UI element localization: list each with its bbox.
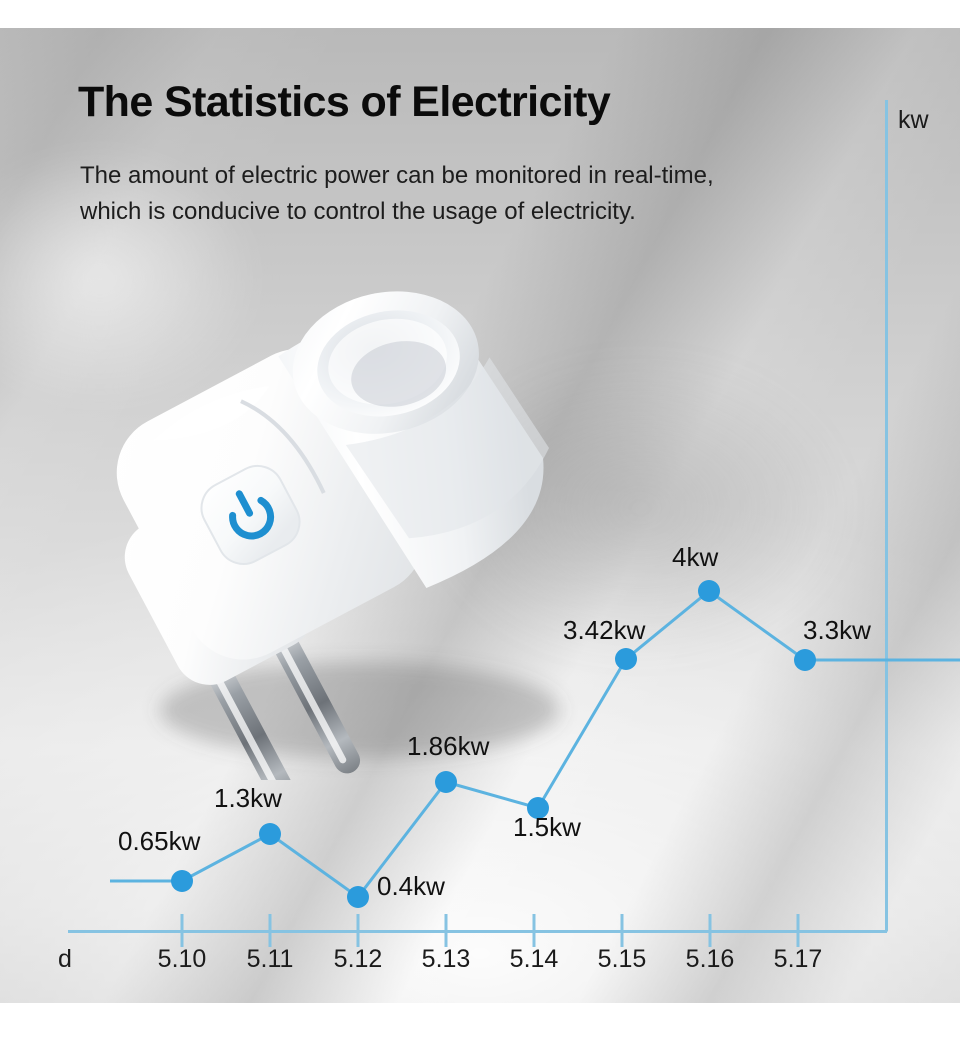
data-label-5-17: 3.3kw bbox=[803, 615, 871, 646]
data-label-5-11: 1.3kw bbox=[214, 783, 282, 814]
electricity-line-chart: kw d 5.10 5.11 5.12 5.13 5.14 5.15 5.16 … bbox=[0, 0, 960, 1003]
x-tick-label-0: 5.10 bbox=[158, 945, 207, 974]
product-infographic-page: The Statistics of Electricity The amount… bbox=[0, 0, 960, 1062]
x-tick-label-7: 5.17 bbox=[774, 945, 823, 974]
data-point-5-15 bbox=[615, 648, 637, 670]
data-label-5-15: 3.42kw bbox=[563, 615, 645, 646]
data-point-5-17 bbox=[794, 649, 816, 671]
y-axis-unit-label: kw bbox=[898, 106, 929, 135]
x-axis-unit-label: d bbox=[58, 945, 72, 974]
data-label-5-16: 4kw bbox=[672, 542, 718, 573]
x-tick-label-6: 5.16 bbox=[686, 945, 735, 974]
data-point-5-11 bbox=[259, 823, 281, 845]
x-tick-label-5: 5.15 bbox=[598, 945, 647, 974]
x-tick-label-4: 5.14 bbox=[510, 945, 559, 974]
data-point-5-16 bbox=[698, 580, 720, 602]
data-label-5-13: 1.86kw bbox=[407, 731, 489, 762]
x-tick-label-1: 5.11 bbox=[247, 945, 294, 974]
data-label-5-10: 0.65kw bbox=[118, 826, 200, 857]
data-point-5-13 bbox=[435, 771, 457, 793]
chart-axes bbox=[68, 100, 887, 947]
chart-data-markers bbox=[171, 580, 816, 908]
data-label-5-12: 0.4kw bbox=[377, 871, 445, 902]
x-tick-label-2: 5.12 bbox=[334, 945, 383, 974]
x-tick-label-3: 5.13 bbox=[422, 945, 471, 974]
data-label-5-14: 1.5kw bbox=[513, 812, 581, 843]
data-point-5-10 bbox=[171, 870, 193, 892]
data-point-5-12 bbox=[347, 886, 369, 908]
